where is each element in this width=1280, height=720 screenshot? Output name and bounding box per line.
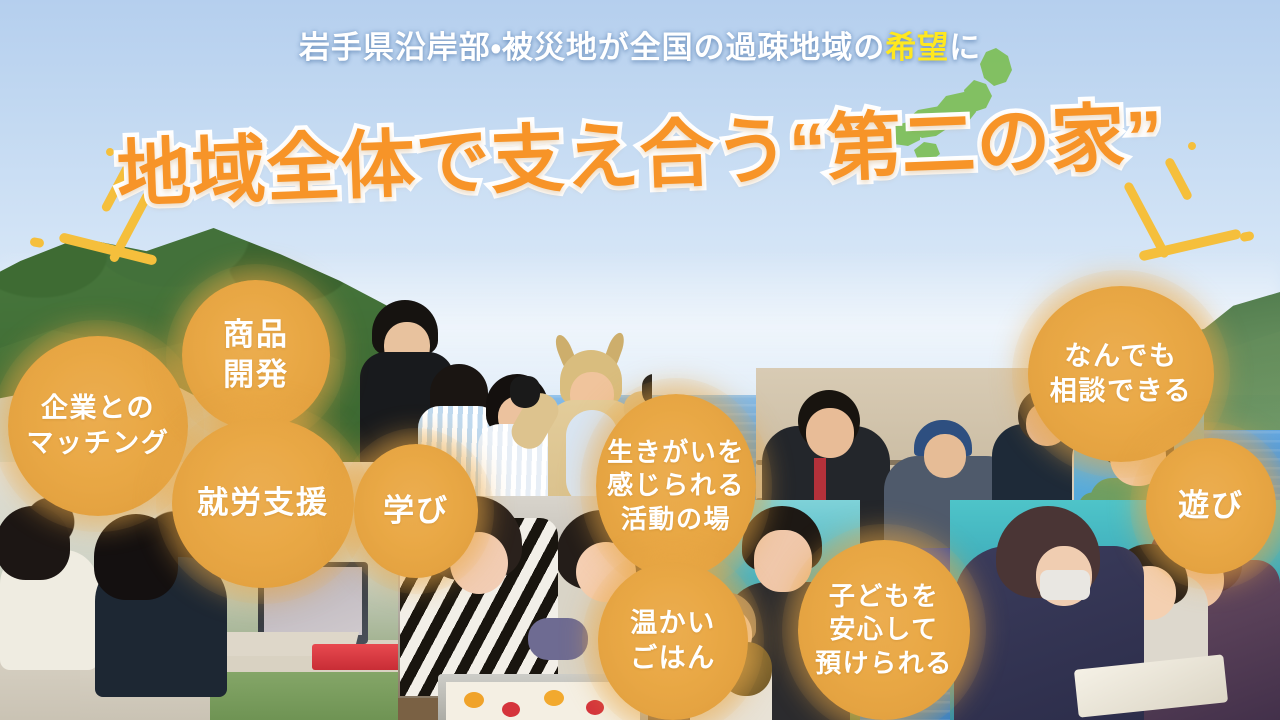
poster-canvas: 企業との マッチング 商品 開発 就労支援 学び 生きがいを 感じられる 活動の… (0, 0, 1280, 720)
bubble-employment-support[interactable]: 就労支援 (172, 418, 354, 588)
kicker-highlight: 希望 (885, 30, 949, 65)
bubble-label: 温かい ごはん (630, 606, 716, 675)
bubble-label: 商品 開発 (223, 315, 289, 394)
bubble-label: 学び (383, 491, 449, 531)
poster-kicker: 岩手県沿岸部・被災地が全国の過疎地域の希望に (0, 22, 1280, 67)
bubble-label: 遊び (1178, 486, 1244, 526)
bubble-label: 企業との マッチング (26, 391, 169, 460)
bubble-label: 就労支援 (197, 483, 328, 523)
kicker-prefix: 岩手県沿岸部・被災地が全国の過疎地域の (299, 30, 885, 65)
bubble-play[interactable]: 遊び (1146, 438, 1276, 574)
bubble-learning[interactable]: 学び (354, 444, 478, 578)
bubble-warm-meals[interactable]: 温かい ごはん (598, 562, 748, 720)
kicker-suffix: に (949, 30, 981, 65)
bubble-childcare[interactable]: 子どもを 安心して 預けられる (798, 540, 970, 720)
bubble-label: なんでも 相談できる (1050, 339, 1193, 408)
bubble-label: 生きがいを 感じられる 活動の場 (607, 436, 745, 536)
bubble-label: 子どもを 安心して 預けられる (815, 580, 953, 680)
